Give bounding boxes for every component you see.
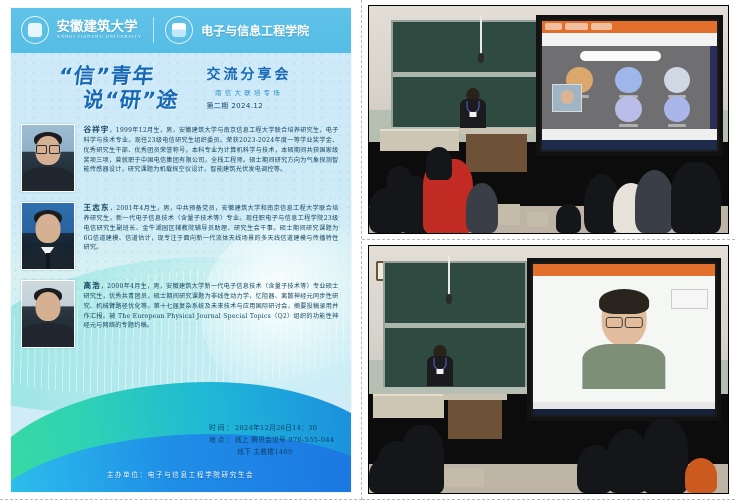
participant-tile xyxy=(664,67,690,98)
speaker-bio-item: 王志东，2001年4月生，男，中共预备党员，安徽建筑大学和南京信息工程大学联合培… xyxy=(11,198,351,276)
speaker-name: 谷祥宇 xyxy=(84,125,110,134)
event-time-label: 时间： xyxy=(209,424,235,432)
projection-screen xyxy=(527,258,721,421)
meeting-notification-popup[interactable] xyxy=(671,289,707,309)
podium-speaker-person xyxy=(426,345,454,385)
lectern xyxy=(466,133,527,172)
speaker-bio-text: 谷祥宇，1999年12月生，男，安徽建筑大学与南京信息工程大学联合培养研究生，电… xyxy=(84,124,339,192)
speaker-bio-text: 高浩，2000年4月生，男，安徽建筑大学新一代电子信息技术（含量子技术等）专业硕… xyxy=(84,280,339,348)
event-poster: 安徽建筑大学 ANHUI JIANZHU UNIVERSITY 电子与信息工程学… xyxy=(11,8,351,492)
poster-title-block: “信”青年 说“研”途 交流分享会 南信大联培专场 第二期 2024.12 xyxy=(11,58,351,120)
meeting-gallery-stage xyxy=(542,46,717,130)
speaker-name: 王志东 xyxy=(84,203,110,212)
front-desk xyxy=(373,394,445,418)
meeting-titlebar xyxy=(542,21,717,33)
event-place-value: 线上 腾讯会议号 976-555-044 xyxy=(235,436,335,444)
meeting-side-panel xyxy=(710,46,717,130)
tencent-meeting-window xyxy=(533,264,715,415)
portrait-wang-zhidong xyxy=(21,202,75,270)
speaker-bio-body: ，2000年4月生，男，安徽建筑大学新一代电子信息技术（含量子技术等）专业硕士研… xyxy=(84,283,339,330)
event-time-value: 2024年12月26日14：30 xyxy=(235,424,317,432)
portrait-gu-xiangyu xyxy=(21,124,75,192)
poster-host-line: 主办单位：电子与信息工程学院研究生会 xyxy=(11,469,351,479)
speaker-bio-list: 谷祥宇，1999年12月生，男，安徽建筑大学与南京信息工程大学联合培养研究生，电… xyxy=(11,120,351,354)
lectern xyxy=(448,399,502,439)
photo-collage: 安徽建筑大学 ANHUI JIANZHU UNIVERSITY 电子与信息工程学… xyxy=(0,0,735,500)
photo-cell-bottom xyxy=(362,240,735,500)
college-name: 电子与信息工程学院 xyxy=(201,22,309,39)
speaker-bio-text: 王志东，2001年4月生，男，中共预备党员，安徽建筑大学和南京信息工程大学联合培… xyxy=(84,202,339,270)
classroom-photo-gallery-view xyxy=(368,5,729,234)
poster-cell: 安徽建筑大学 ANHUI JIANZHU UNIVERSITY 电子与信息工程学… xyxy=(0,0,362,500)
front-desk xyxy=(380,129,459,151)
participant-avatar xyxy=(615,67,641,93)
speaker-bio-body: ，2001年4月生，男，中共预备党员，安徽建筑大学和南京信息工程大学联合培养研究… xyxy=(84,205,339,252)
speaker-bio-body: ，1999年12月生，男，安徽建筑大学与南京信息工程大学联合培养研究生，电子科学… xyxy=(84,127,339,174)
meeting-toolbar xyxy=(542,33,717,46)
projection-screen xyxy=(536,15,723,156)
title-subtitle-main: 交流分享会 xyxy=(207,64,292,84)
title-line-2: 说“研”途 xyxy=(81,84,180,114)
participant-avatar xyxy=(664,67,690,93)
university-name-en: ANHUI JIANZHU UNIVERSITY xyxy=(57,35,143,40)
meeting-titlebar xyxy=(533,264,715,276)
chalkboard xyxy=(383,261,527,389)
podium-speaker-person xyxy=(459,88,487,128)
classroom-photo-remote-speaker xyxy=(368,245,729,494)
title-issue: 第二期 2024.12 xyxy=(207,101,292,111)
meeting-controls-bar[interactable] xyxy=(542,129,717,139)
participant-tile xyxy=(615,67,641,98)
title-subtitle-group: 交流分享会 南信大联培专场 第二期 2024.12 xyxy=(207,64,292,111)
tencent-meeting-window xyxy=(542,21,717,150)
speaker-bio-item: 谷祥宇，1999年12月生，男，安徽建筑大学与南京信息工程大学联合培养研究生，电… xyxy=(11,120,351,198)
speaker-name: 高浩 xyxy=(84,281,101,290)
title-subtitle-secondary: 南信大联培专场 xyxy=(207,87,292,97)
participant-avatar xyxy=(615,96,641,122)
participant-tile xyxy=(615,96,641,127)
photo-cell-top xyxy=(362,0,735,240)
photo-column xyxy=(362,0,735,500)
speaker-bio-item: 高浩，2000年4月生，男，安徽建筑大学新一代电子信息技术（含量子技术等）专业硕… xyxy=(11,276,351,354)
college-seal-icon xyxy=(165,16,193,44)
event-info-block: 时间：2024年12月26日14：30 地点：线上 腾讯会议号 976-555-… xyxy=(209,422,334,459)
self-video-tile xyxy=(552,84,582,112)
participant-tile xyxy=(664,96,690,127)
event-place-label: 地点： xyxy=(209,436,235,444)
event-place-row: 地点：线上 腾讯会议号 976-555-044 xyxy=(209,434,334,446)
university-name-cn: 安徽建筑大学 xyxy=(57,19,138,34)
university-seal-icon xyxy=(21,16,49,44)
hanging-microphone-icon xyxy=(448,256,450,296)
remote-speaker-person xyxy=(582,291,666,389)
university-name: 安徽建筑大学 ANHUI JIANZHU UNIVERSITY xyxy=(57,20,143,40)
participant-avatar xyxy=(664,96,690,122)
hanging-microphone-icon xyxy=(480,15,482,55)
windows-taskbar[interactable] xyxy=(542,140,717,150)
poster-header: 安徽建筑大学 ANHUI JIANZHU UNIVERSITY 电子与信息工程学… xyxy=(11,8,351,53)
meeting-search-input[interactable] xyxy=(580,51,660,62)
event-place-row-offline: 线下 主教楼1409 xyxy=(209,446,334,458)
header-divider xyxy=(153,17,154,43)
windows-taskbar[interactable] xyxy=(533,409,715,416)
event-place-value-offline: 线下 主教楼1409 xyxy=(237,448,292,456)
portrait-gao-hao xyxy=(21,280,75,348)
remote-speaker-video xyxy=(533,276,715,401)
event-time-row: 时间：2024年12月26日14：30 xyxy=(209,422,334,434)
